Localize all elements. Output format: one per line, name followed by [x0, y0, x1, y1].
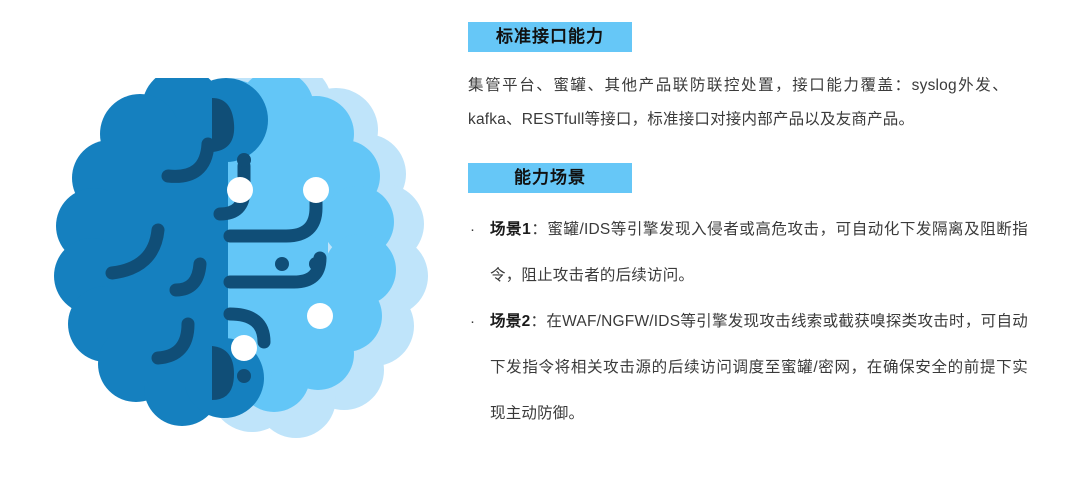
- scenario-list: · 场景1：蜜罐/IDS等引擎发现入侵者或高危攻击，可自动化下发隔离及阻断指令，…: [468, 207, 1028, 437]
- heading-capability-scenarios: 能力场景: [468, 163, 632, 193]
- scenario-separator: ：: [530, 313, 546, 330]
- heading-interface-capability: 标准接口能力: [468, 22, 632, 52]
- brain-illustration: [48, 78, 430, 446]
- bullet-icon: ·: [470, 299, 475, 345]
- bullet-icon: ·: [470, 207, 475, 253]
- interface-capability-body: 集管平台、蜜罐、其他产品联防联控处置，接口能力覆盖：syslog外发、kafka…: [468, 69, 1008, 137]
- scenario-text: 蜜罐/IDS等引擎发现入侵者或高危攻击，可自动化下发隔离及阻断指令，阻止攻击者的…: [490, 221, 1028, 284]
- slide-root: 标准接口能力 集管平台、蜜罐、其他产品联防联控处置，接口能力覆盖：syslog外…: [0, 0, 1080, 495]
- list-item: · 场景2：在WAF/NGFW/IDS等引擎发现攻击线索或截获嗅探类攻击时，可自…: [468, 299, 1028, 437]
- list-item: · 场景1：蜜罐/IDS等引擎发现入侵者或高危攻击，可自动化下发隔离及阻断指令，…: [468, 207, 1028, 299]
- scenario-label: 场景1: [490, 221, 531, 238]
- illustration-pane: [0, 0, 468, 495]
- section-interface-capability: 标准接口能力 集管平台、蜜罐、其他产品联防联控处置，接口能力覆盖：syslog外…: [468, 22, 1034, 137]
- content-pane: 标准接口能力 集管平台、蜜罐、其他产品联防联控处置，接口能力覆盖：syslog外…: [468, 0, 1080, 495]
- scenario-separator: ：: [531, 221, 547, 238]
- section-capability-scenarios: 能力场景 · 场景1：蜜罐/IDS等引擎发现入侵者或高危攻击，可自动化下发隔离及…: [468, 163, 1034, 437]
- scenario-label: 场景2: [490, 313, 530, 330]
- scenario-text: 在WAF/NGFW/IDS等引擎发现攻击线索或截获嗅探类攻击时，可自动下发指令将…: [490, 313, 1028, 422]
